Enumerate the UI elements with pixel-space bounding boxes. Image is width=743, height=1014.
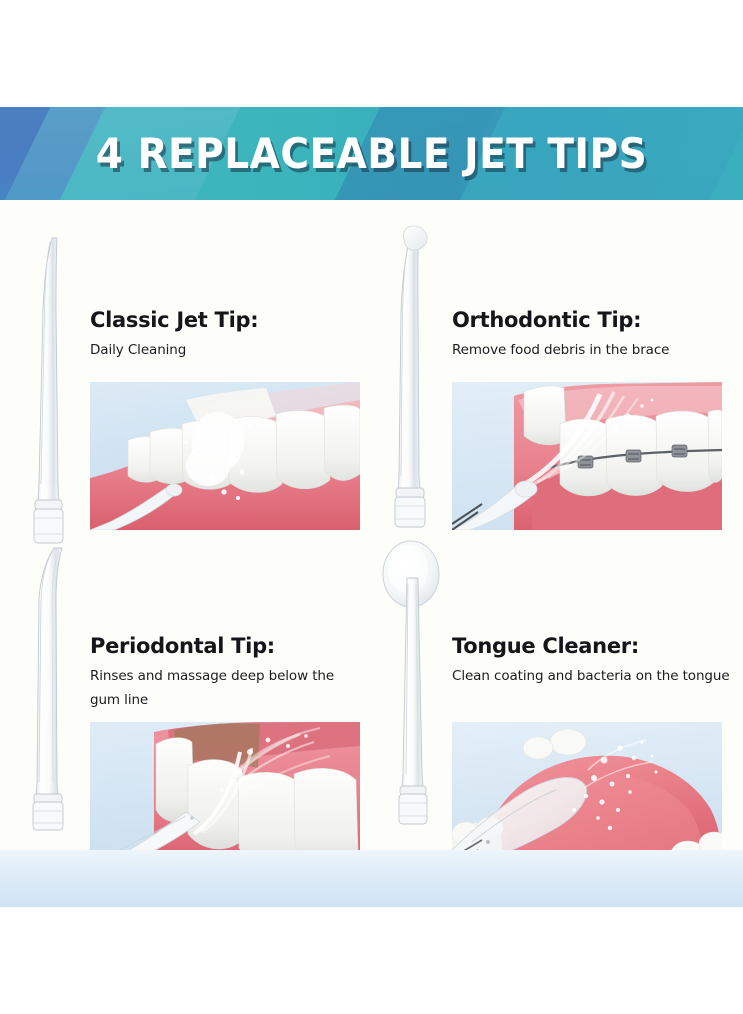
- gum-line-water-spray-photo: [90, 722, 360, 870]
- tip-card-text: Classic Jet Tip: Daily Cleaning: [90, 308, 368, 363]
- tip-card-title: Classic Jet Tip:: [90, 308, 368, 332]
- periodontal-tip-nozzle-icon: [18, 546, 88, 836]
- tip-card-description: Clean coating and bacteria on the tongue: [452, 665, 730, 689]
- infographic-page: 4 REPLACEABLE JET TIPS: [0, 0, 743, 1014]
- tip-card-title: Periodontal Tip:: [90, 634, 368, 658]
- tip-card-description: Remove food debris in the brace: [452, 339, 730, 363]
- tip-card-classic-jet: Classic Jet Tip: Daily Cleaning: [8, 212, 368, 542]
- tip-card-title: Tongue Cleaner:: [452, 634, 730, 658]
- braces-water-spray-photo: [452, 382, 722, 530]
- nozzle-illustration-wrap: [14, 212, 92, 542]
- tip-card-description: Daily Cleaning: [90, 339, 368, 363]
- tip-card-title: Orthodontic Tip:: [452, 308, 730, 332]
- tip-card-orthodontic: Orthodontic Tip: Remove food debris in t…: [370, 212, 730, 542]
- nozzle-illustration-wrap: [376, 212, 454, 542]
- tip-card-periodontal: Periodontal Tip: Rinses and massage deep…: [8, 538, 368, 868]
- tip-card-description: Rinses and massage deep below the gum li…: [90, 665, 368, 712]
- bottom-gradient-band: [0, 850, 743, 907]
- tongue-cleaning-photo: [452, 722, 722, 870]
- tip-card-text: Orthodontic Tip: Remove food debris in t…: [452, 308, 730, 363]
- nozzle-illustration-wrap: [14, 538, 92, 868]
- header-banner: 4 REPLACEABLE JET TIPS: [0, 107, 743, 200]
- banner-title: 4 REPLACEABLE JET TIPS: [26, 129, 717, 178]
- tongue-cleaner-nozzle-icon: [377, 538, 453, 838]
- orthodontic-tip-nozzle-icon: [380, 224, 450, 534]
- bottom-white-margin: [0, 907, 743, 1014]
- tip-card-text: Periodontal Tip: Rinses and massage deep…: [90, 634, 368, 712]
- tip-card-tongue-cleaner: Tongue Cleaner: Clean coating and bacter…: [370, 538, 730, 868]
- classic-jet-tip-nozzle-icon: [18, 234, 88, 554]
- tips-grid: Classic Jet Tip: Daily Cleaning: [0, 200, 743, 890]
- top-white-margin: [0, 0, 743, 107]
- nozzle-illustration-wrap: [376, 538, 454, 868]
- tip-card-text: Tongue Cleaner: Clean coating and bacter…: [452, 634, 730, 689]
- teeth-water-spray-photo: [90, 382, 360, 530]
